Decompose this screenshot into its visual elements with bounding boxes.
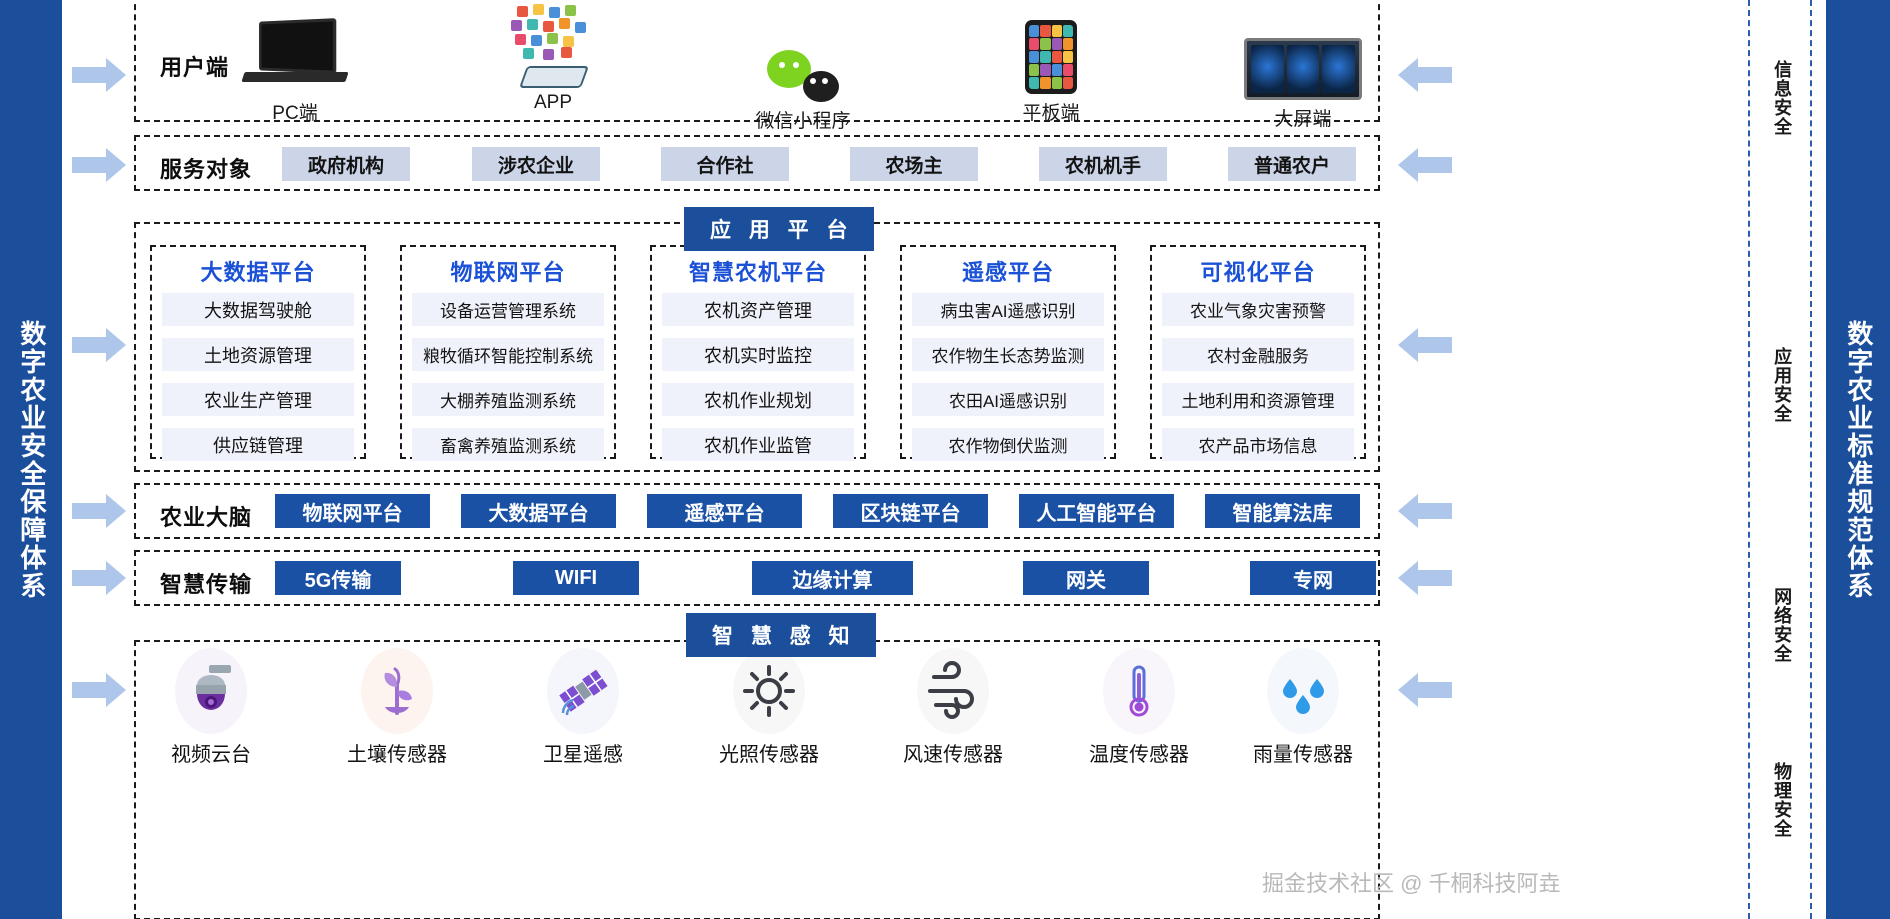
platform-big-data-item-0[interactable]: 大数据驾驶舱 xyxy=(162,293,354,326)
application-platform-tab: 应 用 平 台 xyxy=(684,207,874,251)
transport-item-5g[interactable]: 5G传输 xyxy=(275,561,401,595)
platform-visualization: 可视化平台 农业气象灾害预警 农村金融服务 土地利用和资源管理 农产品市场信息 xyxy=(1150,245,1366,459)
thermometer-icon xyxy=(1103,648,1175,734)
sun-icon xyxy=(733,648,805,734)
arrow-to-service-layer xyxy=(72,148,126,182)
platform-big-data-item-3[interactable]: 供应链管理 xyxy=(162,428,354,461)
sensor-satellite[interactable]: 卫星遥感 xyxy=(508,648,658,767)
terminal-wechat-caption: 微信小程序 xyxy=(728,106,878,133)
platform-visualization-item-2[interactable]: 土地利用和资源管理 xyxy=(1162,383,1354,416)
platform-smart-machinery-item-0[interactable]: 农机资产管理 xyxy=(662,293,854,326)
sensor-rainfall[interactable]: 雨量传感器 xyxy=(1228,648,1378,767)
platform-smart-machinery-item-3[interactable]: 农机作业监管 xyxy=(662,428,854,461)
platform-remote-sensing-title: 遥感平台 xyxy=(912,255,1104,287)
client-layer-label: 用户端 xyxy=(160,50,229,82)
security-item-network: 网络安全 xyxy=(1750,560,1814,690)
arrow-from-information-security xyxy=(1398,58,1452,92)
platform-visualization-item-3[interactable]: 农产品市场信息 xyxy=(1162,428,1354,461)
transport-item-wifi[interactable]: WIFI xyxy=(513,561,639,595)
sensor-wind-speed-label: 风速传感器 xyxy=(878,738,1028,767)
platform-visualization-title: 可视化平台 xyxy=(1162,255,1354,287)
wechat-icon xyxy=(728,16,878,102)
arrow-to-transport-layer xyxy=(72,561,126,595)
platform-smart-machinery-title: 智慧农机平台 xyxy=(662,255,854,287)
terminal-big-screen[interactable]: 大屏端 xyxy=(1228,14,1378,131)
app-cloud-icon xyxy=(478,2,628,88)
service-layer-label: 服务对象 xyxy=(160,152,252,184)
security-item-application: 应用安全 xyxy=(1750,225,1814,545)
arrow-to-brain-layer xyxy=(72,494,126,528)
platform-visualization-item-1[interactable]: 农村金融服务 xyxy=(1162,338,1354,371)
terminal-pc[interactable]: PC端 xyxy=(220,8,370,125)
big-screen-icon xyxy=(1228,14,1378,100)
service-item-machine-operator[interactable]: 农机机手 xyxy=(1039,147,1167,181)
left-banner-text: 数字农业安全保障体系 xyxy=(12,320,50,600)
platform-smart-machinery: 智慧农机平台 农机资产管理 农机实时监控 农机作业规划 农机作业监管 xyxy=(650,245,866,459)
brain-layer-label: 农业大脑 xyxy=(160,500,252,532)
platform-remote-sensing-item-2[interactable]: 农田AI遥感识别 xyxy=(912,383,1104,416)
brain-item-algorithm-library[interactable]: 智能算法库 xyxy=(1205,494,1360,528)
sensor-light-label: 光照传感器 xyxy=(694,738,844,767)
service-item-regular-farmer[interactable]: 普通农户 xyxy=(1228,147,1356,181)
platform-iot: 物联网平台 设备运营管理系统 粮牧循环智能控制系统 大棚养殖监测系统 畜禽养殖监… xyxy=(400,245,616,459)
platform-visualization-item-0[interactable]: 农业气象灾害预警 xyxy=(1162,293,1354,326)
transport-layer-label: 智慧传输 xyxy=(160,567,252,599)
sensor-rainfall-label: 雨量传感器 xyxy=(1228,738,1378,767)
platform-big-data-item-1[interactable]: 土地资源管理 xyxy=(162,338,354,371)
raindrop-icon xyxy=(1267,648,1339,734)
sprout-icon xyxy=(361,648,433,734)
arrow-from-physical-security xyxy=(1398,673,1452,707)
brain-item-big-data[interactable]: 大数据平台 xyxy=(461,494,616,528)
terminal-big-screen-caption: 大屏端 xyxy=(1228,104,1378,131)
transport-item-gateway[interactable]: 网关 xyxy=(1023,561,1149,595)
terminal-app-caption: APP xyxy=(478,92,628,114)
terminal-wechat[interactable]: 微信小程序 xyxy=(728,16,878,133)
terminal-tablet-caption: 平板端 xyxy=(976,98,1126,125)
sensor-temperature[interactable]: 温度传感器 xyxy=(1064,648,1214,767)
platform-iot-item-1[interactable]: 粮牧循环智能控制系统 xyxy=(412,338,604,371)
arrow-to-sensing-layer xyxy=(72,673,126,707)
terminal-app[interactable]: APP xyxy=(478,2,628,114)
laptop-icon xyxy=(220,8,370,94)
arrow-to-client-layer xyxy=(72,58,126,92)
arrow-from-application-security xyxy=(1398,328,1452,362)
service-item-cooperative[interactable]: 合作社 xyxy=(661,147,789,181)
transport-item-private-network[interactable]: 专网 xyxy=(1250,561,1376,595)
platform-big-data: 大数据平台 大数据驾驶舱 土地资源管理 农业生产管理 供应链管理 xyxy=(150,245,366,459)
tablet-icon xyxy=(976,8,1126,94)
sensor-soil[interactable]: 土壤传感器 xyxy=(322,648,472,767)
sensor-video-ptz[interactable]: 视频云台 xyxy=(136,648,286,767)
transport-item-edge-computing[interactable]: 边缘计算 xyxy=(752,561,913,595)
arrow-to-application-platform xyxy=(72,328,126,362)
service-item-agri-enterprise[interactable]: 涉农企业 xyxy=(472,147,600,181)
platform-big-data-item-2[interactable]: 农业生产管理 xyxy=(162,383,354,416)
platform-smart-machinery-item-1[interactable]: 农机实时监控 xyxy=(662,338,854,371)
arrow-from-network-security xyxy=(1398,494,1452,528)
sensor-light[interactable]: 光照传感器 xyxy=(694,648,844,767)
platform-remote-sensing: 遥感平台 病虫害AI遥感识别 农作物生长态势监测 农田AI遥感识别 农作物倒伏监… xyxy=(900,245,1116,459)
sensor-soil-label: 土壤传感器 xyxy=(322,738,472,767)
ptz-camera-icon xyxy=(175,648,247,734)
arrow-from-network-security-2 xyxy=(1398,561,1452,595)
platform-iot-title: 物联网平台 xyxy=(412,255,604,287)
sensor-wind-speed[interactable]: 风速传感器 xyxy=(878,648,1028,767)
platform-iot-item-3[interactable]: 畜禽养殖监测系统 xyxy=(412,428,604,461)
arrow-from-information-security-2 xyxy=(1398,148,1452,182)
platform-big-data-title: 大数据平台 xyxy=(162,255,354,287)
brain-item-ai[interactable]: 人工智能平台 xyxy=(1019,494,1174,528)
platform-remote-sensing-item-1[interactable]: 农作物生长态势监测 xyxy=(912,338,1104,371)
platform-smart-machinery-item-2[interactable]: 农机作业规划 xyxy=(662,383,854,416)
terminal-tablet[interactable]: 平板端 xyxy=(976,8,1126,125)
platform-remote-sensing-item-3[interactable]: 农作物倒伏监测 xyxy=(912,428,1104,461)
platform-iot-item-0[interactable]: 设备运营管理系统 xyxy=(412,293,604,326)
sensing-layer-tab: 智 慧 感 知 xyxy=(686,613,876,657)
service-item-farm-owner[interactable]: 农场主 xyxy=(850,147,978,181)
wind-icon xyxy=(917,648,989,734)
sensor-temperature-label: 温度传感器 xyxy=(1064,738,1214,767)
brain-item-remote-sensing[interactable]: 遥感平台 xyxy=(647,494,802,528)
sensor-video-ptz-label: 视频云台 xyxy=(136,738,286,767)
security-item-physical: 物理安全 xyxy=(1750,725,1814,875)
sensor-satellite-label: 卫星遥感 xyxy=(508,738,658,767)
right-banner: 数字农业标准规范体系 xyxy=(1826,0,1890,919)
security-column: 信息安全 应用安全 网络安全 物理安全 xyxy=(1748,0,1812,919)
right-banner-text: 数字农业标准规范体系 xyxy=(1839,320,1877,600)
left-banner: 数字农业安全保障体系 xyxy=(0,0,62,919)
security-item-information: 信息安全 xyxy=(1750,0,1814,196)
service-item-government[interactable]: 政府机构 xyxy=(282,147,410,181)
brain-item-iot[interactable]: 物联网平台 xyxy=(275,494,430,528)
brain-item-blockchain[interactable]: 区块链平台 xyxy=(833,494,988,528)
platform-iot-item-2[interactable]: 大棚养殖监测系统 xyxy=(412,383,604,416)
platform-remote-sensing-item-0[interactable]: 病虫害AI遥感识别 xyxy=(912,293,1104,326)
terminal-pc-caption: PC端 xyxy=(220,98,370,125)
satellite-icon xyxy=(547,648,619,734)
